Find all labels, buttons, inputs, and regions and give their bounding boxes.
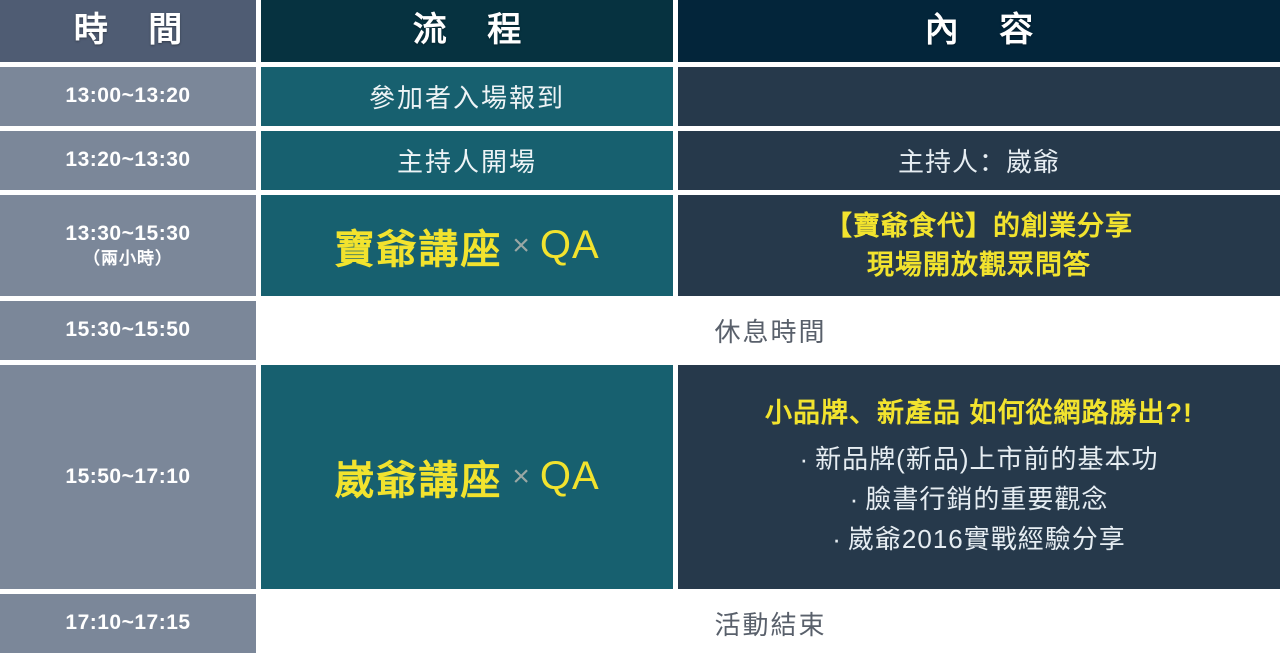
header-cell-time: 時 間 — [0, 0, 256, 62]
row-span-label: 休息時間 — [714, 312, 826, 349]
session-title-baoye: 寶爺講座 × QA — [334, 217, 599, 275]
list-item-label: 臉書行銷的重要觀念 — [865, 484, 1108, 514]
table-row: 13:20~13:30 主持人開場 主持人：崴爺 — [0, 131, 1280, 190]
row-content-cell: 小品牌、新產品 如何從網路勝出?! ·新品牌(新品)上市前的基本功 ·臉書行銷的… — [678, 365, 1280, 589]
list-item: ·新品牌(新品)上市前的基本功 — [694, 439, 1264, 479]
table-row: 13:00~13:20 參加者入場報到 — [0, 67, 1280, 126]
content-block: 小品牌、新產品 如何從網路勝出?! ·新品牌(新品)上市前的基本功 ·臉書行銷的… — [678, 394, 1280, 560]
row-flow-label: 參加者入場報到 — [369, 78, 565, 115]
session-title-qa: QA — [540, 223, 600, 268]
session-title-weiye: 崴爺講座 × QA — [334, 448, 599, 506]
content-block: 【寶爺食代】的創業分享 現場開放觀眾問答 — [678, 207, 1280, 285]
header-label-time: 時 間 — [58, 12, 199, 49]
row-span-label: 活動結束 — [714, 605, 826, 642]
row-time-note: （兩小時） — [83, 248, 173, 271]
row-time-label: 13:00~13:20 — [65, 82, 190, 110]
multiply-icon: × — [512, 229, 530, 263]
table-row: 13:30~15:30 （兩小時） 寶爺講座 × QA 【寶爺食代】的創業分享 … — [0, 195, 1280, 296]
list-item-label: 新品牌(新品)上市前的基本功 — [815, 444, 1158, 474]
content-bullet-list: ·新品牌(新品)上市前的基本功 ·臉書行銷的重要觀念 ·崴爺2016實戰經驗分享 — [694, 439, 1264, 560]
row-time-cell: 15:50~17:10 — [0, 365, 256, 589]
row-time-label: 17:10~17:15 — [65, 609, 190, 637]
bullet-dot-icon: · — [850, 484, 860, 514]
row-time-cell: 13:00~13:20 — [0, 67, 256, 126]
row-time-label: 13:20~13:30 — [65, 146, 190, 174]
list-item: ·崴爺2016實戰經驗分享 — [694, 519, 1264, 559]
row-content-cell — [678, 67, 1280, 126]
table-header-row: 時 間 流 程 內 容 — [0, 0, 1280, 62]
header-cell-flow: 流 程 — [261, 0, 673, 62]
row-time-label: 13:30~15:30 — [65, 220, 190, 248]
row-time-label: 15:50~17:10 — [65, 463, 190, 491]
header-cell-content: 內 容 — [678, 0, 1280, 62]
row-span-cell-break: 休息時間 — [261, 301, 1280, 359]
row-flow-cell: 寶爺講座 × QA — [261, 195, 673, 296]
bullet-dot-icon: · — [832, 524, 842, 554]
row-time-cell: 17:10~17:15 — [0, 594, 256, 653]
table-row-break: 15:30~15:50 休息時間 — [0, 301, 1280, 359]
row-content-cell: 【寶爺食代】的創業分享 現場開放觀眾問答 — [678, 195, 1280, 296]
session-title-text: 寶爺講座 — [334, 217, 502, 275]
row-content-cell: 主持人：崴爺 — [678, 131, 1280, 190]
table-row: 15:50~17:10 崴爺講座 × QA 小品牌、新產品 如何從網路勝出?! … — [0, 365, 1280, 589]
multiply-icon: × — [512, 460, 530, 494]
row-time-cell: 13:20~13:30 — [0, 131, 256, 190]
row-time-cell: 13:30~15:30 （兩小時） — [0, 195, 256, 296]
content-line-2: 現場開放觀眾問答 — [694, 246, 1264, 285]
session-title-text: 崴爺講座 — [334, 448, 502, 506]
row-flow-label: 主持人開場 — [397, 142, 537, 179]
header-label-content: 內 容 — [909, 12, 1050, 49]
row-flow-cell: 主持人開場 — [261, 131, 673, 190]
list-item-label: 崴爺2016實戰經驗分享 — [848, 524, 1126, 554]
table-row-end: 17:10~17:15 活動結束 — [0, 594, 1280, 653]
row-flow-cell: 崴爺講座 × QA — [261, 365, 673, 589]
bullet-dot-icon: · — [800, 444, 810, 474]
row-content-label: 主持人：崴爺 — [898, 142, 1060, 179]
row-span-cell-end: 活動結束 — [261, 594, 1280, 653]
row-time-cell: 15:30~15:50 — [0, 301, 256, 359]
row-time-label: 15:30~15:50 — [65, 316, 190, 344]
schedule-table: 時 間 流 程 內 容 13:00~13:20 參加者入場報到 13:20~13… — [0, 0, 1280, 653]
session-title-qa: QA — [540, 454, 600, 499]
row-flow-cell: 參加者入場報到 — [261, 67, 673, 126]
header-label-flow: 流 程 — [397, 12, 538, 49]
content-line-1: 【寶爺食代】的創業分享 — [694, 207, 1264, 246]
content-headline: 小品牌、新產品 如何從網路勝出?! — [694, 394, 1264, 433]
list-item: ·臉書行銷的重要觀念 — [694, 479, 1264, 519]
